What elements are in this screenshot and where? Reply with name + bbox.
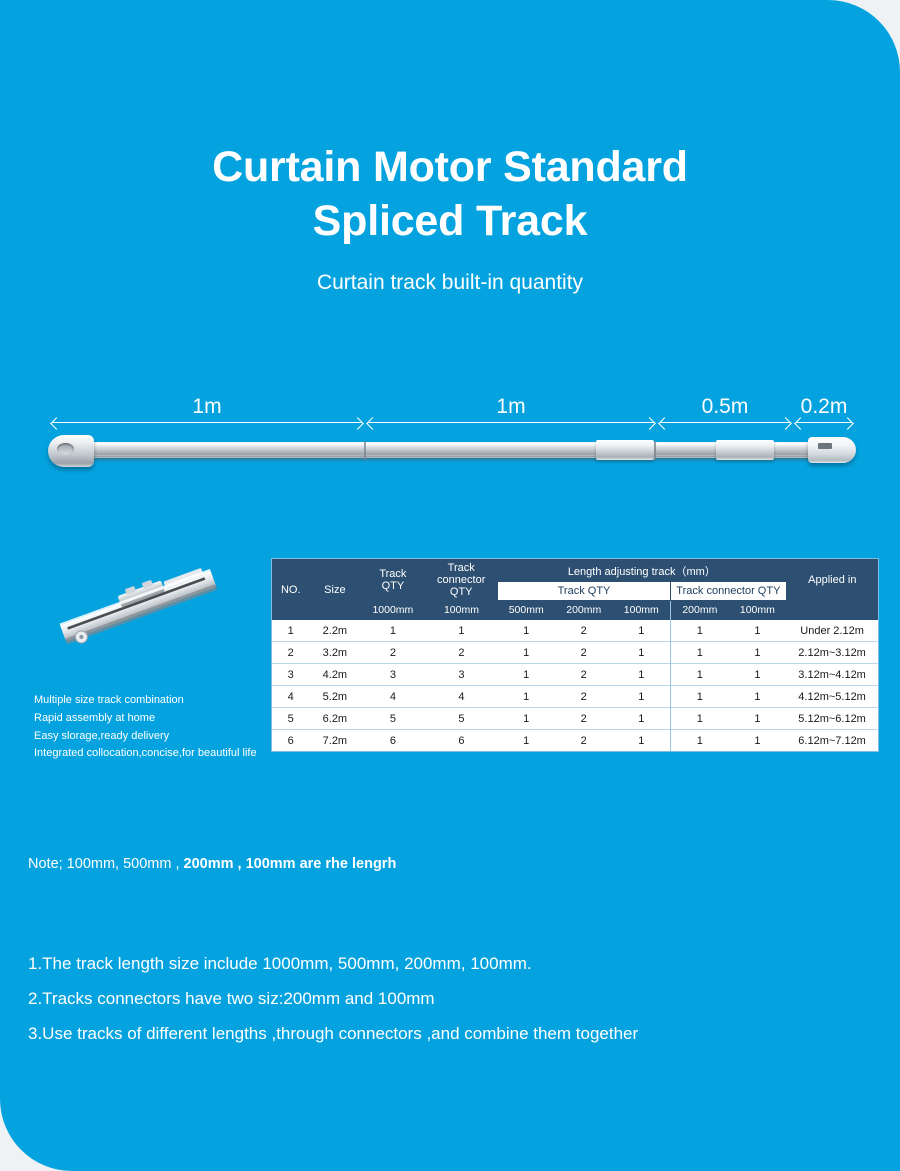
page-title-line-1: Curtain Motor Standard — [0, 140, 900, 194]
dimension-label-3: 0.5m — [660, 394, 790, 420]
cell-no: 1 — [272, 620, 309, 642]
arrow-left-icon — [660, 416, 668, 429]
unit-adj-200: 200mm — [555, 601, 613, 621]
cell-adj-200: 2 — [555, 664, 613, 686]
track-connector-product-image — [30, 545, 250, 665]
cell-no: 5 — [272, 708, 309, 730]
arrow-left-icon — [52, 416, 60, 429]
unit-adj-100: 100mm — [613, 601, 671, 621]
spec-table: NO. Size Track QTY Track connector QTY L… — [272, 559, 878, 751]
cell-no: 2 — [272, 642, 309, 664]
cell-applied-in: 6.12m~7.12m — [786, 730, 878, 752]
dimension-label-1: 1m — [52, 394, 362, 420]
unit-conn-200: 200mm — [671, 601, 729, 621]
table-row: 2 3.2m 2 2 1 2 1 1 1 2.12m~3.12m — [272, 642, 878, 664]
rail-end-cap-right — [808, 437, 856, 463]
unit-applied-in-spacer — [786, 601, 878, 621]
cell-track-connector-qty: 3 — [425, 664, 497, 686]
page-subtitle: Curtain track built-in quantity — [0, 271, 900, 295]
cell-track-connector-qty: 6 — [425, 730, 497, 752]
cell-adj-500: 1 — [497, 708, 555, 730]
cell-adj-100: 1 — [613, 708, 671, 730]
cell-conn-100: 1 — [729, 708, 787, 730]
rail-connector-1 — [596, 440, 654, 460]
product-card: Curtain Motor Standard Spliced Track Cur… — [0, 0, 900, 1171]
arrow-right-icon — [646, 416, 654, 429]
col-header-sub-track-connector-qty: Track connector QTY — [671, 582, 787, 601]
cell-adj-500: 1 — [497, 620, 555, 642]
arrow-left-icon — [368, 416, 376, 429]
col-header-track-qty-line1: Track — [360, 568, 425, 580]
cell-adj-100: 1 — [613, 664, 671, 686]
page-title-line-2: Spliced Track — [0, 194, 900, 248]
cell-conn-100: 1 — [729, 730, 787, 752]
cell-adj-200: 2 — [555, 620, 613, 642]
cell-adj-200: 2 — [555, 730, 613, 752]
unit-track-qty: 1000mm — [360, 601, 425, 621]
cell-track-connector-qty: 5 — [425, 708, 497, 730]
cell-adj-500: 1 — [497, 686, 555, 708]
cell-conn-200: 1 — [671, 664, 729, 686]
dimension-segment-4: 0.2m — [796, 396, 852, 434]
col-header-no: NO. — [272, 559, 309, 620]
cell-conn-100: 1 — [729, 620, 787, 642]
cell-track-qty: 4 — [360, 686, 425, 708]
cell-size: 2.2m — [309, 620, 360, 642]
cell-track-qty: 3 — [360, 664, 425, 686]
cell-size: 4.2m — [309, 664, 360, 686]
cell-track-connector-qty: 2 — [425, 642, 497, 664]
col-header-track-qty: Track QTY — [360, 559, 425, 601]
cell-adj-500: 1 — [497, 730, 555, 752]
cell-applied-in: 5.12m~6.12m — [786, 708, 878, 730]
col-header-applied-in: Applied in — [786, 559, 878, 601]
cell-adj-500: 1 — [497, 642, 555, 664]
cell-size: 7.2m — [309, 730, 360, 752]
arrow-left-icon — [796, 416, 804, 429]
cell-conn-200: 1 — [671, 620, 729, 642]
cell-track-connector-qty: 1 — [425, 620, 497, 642]
cell-track-qty: 5 — [360, 708, 425, 730]
cell-track-connector-qty: 4 — [425, 686, 497, 708]
col-header-sub-track-qty: Track QTY — [497, 582, 670, 601]
cell-applied-in: 2.12m~3.12m — [786, 642, 878, 664]
cell-track-qty: 2 — [360, 642, 425, 664]
feature-item: Rapid assembly at home — [34, 710, 264, 728]
table-body: 1 2.2m 1 1 1 2 1 1 1 Under 2.12m 2 3.2m … — [272, 620, 878, 751]
dimension-line-2 — [368, 422, 654, 423]
col-header-size: Size — [309, 559, 360, 620]
cell-size: 5.2m — [309, 686, 360, 708]
cell-track-qty: 6 — [360, 730, 425, 752]
unit-adj-500: 500mm — [497, 601, 555, 621]
cell-adj-200: 2 — [555, 686, 613, 708]
dimension-label-2: 1m — [368, 394, 654, 420]
specification-table: NO. Size Track QTY Track connector QTY L… — [271, 558, 879, 752]
cell-conn-200: 1 — [671, 642, 729, 664]
dimension-segment-2: 1m — [368, 396, 654, 434]
dimension-bar: 1m 1m 0.5m 0.2m — [52, 396, 852, 434]
page-title: Curtain Motor Standard Spliced Track — [0, 140, 900, 248]
unit-conn-100: 100mm — [729, 601, 787, 621]
table-row: 3 4.2m 3 3 1 2 1 1 1 3.12m~4.12m — [272, 664, 878, 686]
rail-connector-2 — [716, 440, 774, 460]
dimension-line-3 — [660, 422, 790, 423]
table-row: 5 6.2m 5 5 1 2 1 1 1 5.12m~6.12m — [272, 708, 878, 730]
arrow-right-icon — [844, 416, 852, 429]
cell-adj-100: 1 — [613, 686, 671, 708]
cell-applied-in: 4.12m~5.12m — [786, 686, 878, 708]
cell-conn-100: 1 — [729, 642, 787, 664]
cell-size: 3.2m — [309, 642, 360, 664]
col-header-track-qty-line2: QTY — [360, 580, 425, 592]
feature-item: Multiple size track combination — [34, 692, 264, 710]
instruction-item: 2.Tracks connectors have two siz:200mm a… — [28, 981, 868, 1016]
table-header: NO. Size Track QTY Track connector QTY L… — [272, 559, 878, 620]
cell-no: 6 — [272, 730, 309, 752]
rail-end-cap-left — [48, 435, 94, 467]
instruction-item: 1.The track length size include 1000mm, … — [28, 946, 868, 981]
cell-adj-500: 1 — [497, 664, 555, 686]
feature-item: Integrated collocation,concise,for beaut… — [34, 745, 264, 763]
table-row: 1 2.2m 1 1 1 2 1 1 1 Under 2.12m — [272, 620, 878, 642]
cell-conn-100: 1 — [729, 686, 787, 708]
col-header-track-connector-qty-line3: QTY — [425, 586, 496, 598]
col-header-track-connector-qty-line1: Track — [425, 562, 496, 574]
dimension-segment-3: 0.5m — [660, 396, 790, 434]
arrow-right-icon — [782, 416, 790, 429]
cell-conn-200: 1 — [671, 708, 729, 730]
instruction-list: 1.The track length size include 1000mm, … — [28, 946, 868, 1051]
cell-no: 3 — [272, 664, 309, 686]
col-header-track-connector-qty: Track connector QTY — [425, 559, 497, 601]
cell-applied-in: 3.12m~4.12m — [786, 664, 878, 686]
cell-adj-200: 2 — [555, 642, 613, 664]
cell-track-qty: 1 — [360, 620, 425, 642]
rail-seam — [364, 441, 366, 460]
cell-adj-100: 1 — [613, 642, 671, 664]
cell-applied-in: Under 2.12m — [786, 620, 878, 642]
cell-conn-200: 1 — [671, 730, 729, 752]
table-header-row-3: 1000mm 100mm 500mm 200mm 100mm 200mm 100… — [272, 601, 878, 621]
curtain-track-rail-illustration — [48, 430, 856, 476]
col-header-track-connector-qty-line2: connector — [425, 574, 496, 586]
feature-item: Easy slorage,ready delivery — [34, 728, 264, 746]
cell-conn-200: 1 — [671, 686, 729, 708]
note-prefix: Note; 100mm, 500mm , — [28, 856, 184, 872]
dimension-line-1 — [52, 422, 362, 423]
note-emphasis: 200mm , 100mm are rhe lengrh — [184, 856, 397, 872]
cell-adj-100: 1 — [613, 730, 671, 752]
instruction-item: 3.Use tracks of different lengths ,throu… — [28, 1016, 868, 1051]
cell-adj-100: 1 — [613, 620, 671, 642]
feature-list: Multiple size track combination Rapid as… — [34, 692, 264, 763]
note-text: Note; 100mm, 500mm , 200mm , 100mm are r… — [28, 856, 396, 872]
dimension-segment-1: 1m — [52, 396, 362, 434]
cell-conn-100: 1 — [729, 664, 787, 686]
table-row: 4 5.2m 4 4 1 2 1 1 1 4.12m~5.12m — [272, 686, 878, 708]
arrow-right-icon — [354, 416, 362, 429]
unit-track-connector-qty: 100mm — [425, 601, 497, 621]
rail-seam — [654, 441, 656, 460]
table-header-row-1: NO. Size Track QTY Track connector QTY L… — [272, 559, 878, 582]
col-header-length-adjusting-track: Length adjusting track（mm） — [497, 559, 786, 582]
cell-size: 6.2m — [309, 708, 360, 730]
cell-adj-200: 2 — [555, 708, 613, 730]
table-row: 6 7.2m 6 6 1 2 1 1 1 6.12m~7.12m — [272, 730, 878, 752]
cell-no: 4 — [272, 686, 309, 708]
